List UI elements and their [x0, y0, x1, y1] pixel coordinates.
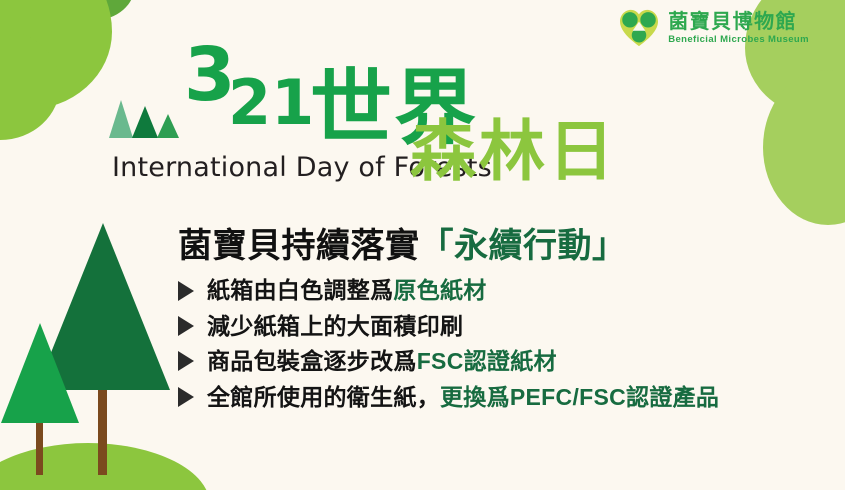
- triangle-bullet-icon: [178, 351, 194, 371]
- bullet-text: 全館所使用的衛生紙，更換爲PEFC/FSC認證產品: [207, 384, 719, 410]
- list-item: 全館所使用的衛生紙，更換爲PEFC/FSC認證產品: [178, 384, 719, 410]
- message-block: 菌寶貝持續落實「永續行動」 紙箱由白色調整爲原色紙材 減少紙箱上的大面積印刷 商…: [178, 228, 719, 419]
- message-heading-plain: 菌寶貝持續落實: [178, 227, 420, 265]
- bullet-accent: 原色紙材: [393, 277, 486, 303]
- bullet-plain: 減少紙箱上的大面積印刷: [207, 313, 463, 339]
- triangle-bullet-icon: [178, 281, 194, 301]
- list-item: 減少紙箱上的大面積印刷: [178, 313, 719, 339]
- logo-name-cn: 菌寶貝博物館: [668, 12, 809, 32]
- list-item: 商品包裝盒逐步改爲FSC認證紙材: [178, 348, 719, 374]
- date-numerals: 3 21: [184, 42, 306, 146]
- mini-trees-icon: [108, 96, 182, 142]
- headline-senlinri: 森林日: [410, 118, 617, 184]
- message-heading-accent: 「永續行動」: [420, 227, 627, 265]
- bullet-plain: 紙箱由白色調整爲: [207, 277, 393, 303]
- triangle-bullet-icon: [178, 387, 194, 407]
- bullet-accent: 更換爲PEFC/FSC認證產品: [440, 384, 719, 410]
- museum-logo: 菌寶貝博物館 Beneficial Microbes Museum: [619, 9, 809, 47]
- beneficial-microbes-heart-logo-icon: [619, 9, 659, 47]
- bullet-text: 商品包裝盒逐步改爲FSC認證紙材: [207, 348, 557, 374]
- bullet-plain: 商品包裝盒逐步改爲: [207, 348, 417, 374]
- bullet-text: 紙箱由白色調整爲原色紙材: [207, 277, 487, 303]
- logo-name-en: Beneficial Microbes Museum: [668, 35, 809, 45]
- date-day: 21: [228, 72, 314, 134]
- bullet-plain: 全館所使用的衛生紙，: [207, 384, 440, 410]
- message-heading: 菌寶貝持續落實「永續行動」: [178, 228, 719, 265]
- list-item: 紙箱由白色調整爲原色紙材: [178, 277, 719, 303]
- bullet-list: 紙箱由白色調整爲原色紙材 減少紙箱上的大面積印刷 商品包裝盒逐步改爲FSC認證紙…: [178, 277, 719, 410]
- forest-day-banner: 菌寶貝博物館 Beneficial Microbes Museum 3 21 世…: [0, 0, 845, 490]
- triangle-bullet-icon: [178, 316, 194, 336]
- bullet-accent: FSC認證紙材: [417, 348, 557, 374]
- bullet-text: 減少紙箱上的大面積印刷: [207, 313, 463, 339]
